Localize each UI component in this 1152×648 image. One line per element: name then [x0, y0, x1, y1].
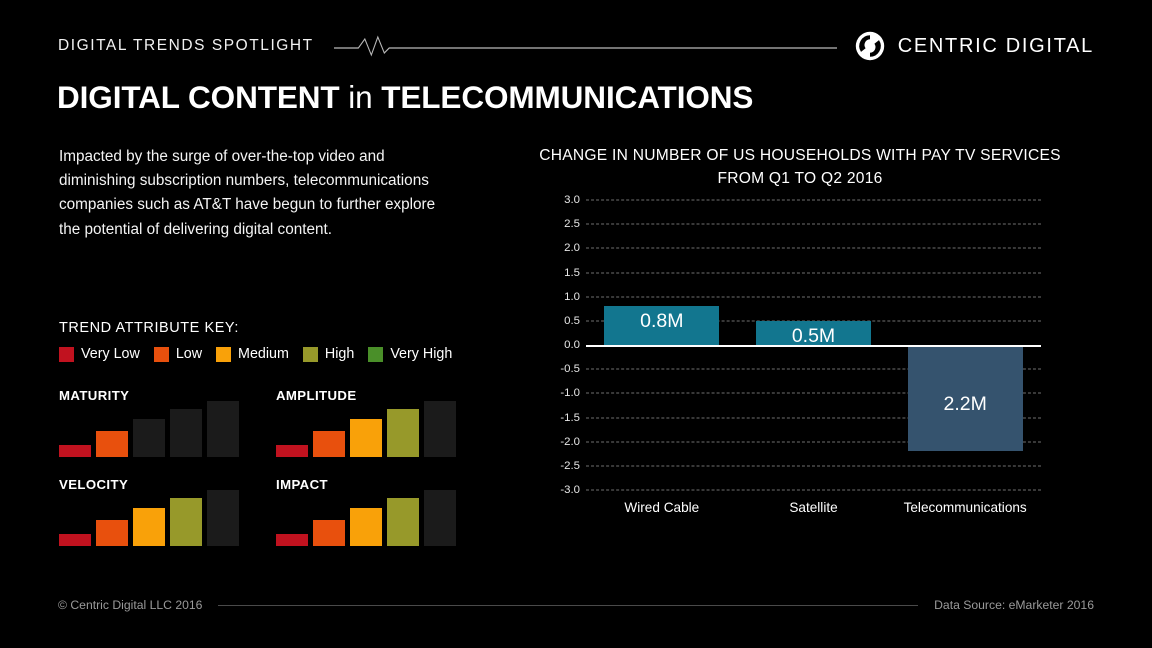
x-axis-labels: Wired CableSatelliteTelecommunications [586, 500, 1041, 524]
attribute-meter-bar [170, 409, 202, 457]
chart-gridline [586, 490, 1041, 491]
attribute-meter-bar [170, 498, 202, 546]
page-title: DIGITAL CONTENT in TELECOMMUNICATIONS [57, 80, 753, 115]
page-title-part3: TELECOMMUNICATIONS [381, 79, 753, 115]
chart-title-line2: FROM Q1 TO Q2 2016 [520, 168, 1080, 191]
attribute-meter-bar [59, 534, 91, 546]
legend-label: Very High [390, 346, 452, 362]
attribute-meter-bar [96, 431, 128, 457]
intro-paragraph: Impacted by the surge of over-the-top vi… [59, 145, 454, 242]
attribute-meter-bar [207, 401, 239, 457]
chart-title-line1: CHANGE IN NUMBER OF US HOUSEHOLDS WITH P… [520, 145, 1080, 168]
chart-bar-value-label: 2.2M [908, 393, 1023, 416]
attribute-meter-bar [96, 520, 128, 546]
chart-bar-value-label: 0.8M [604, 310, 719, 333]
y-axis-tick-label: -3.0 [560, 484, 580, 496]
attribute-meter-bars [276, 407, 438, 457]
y-axis-tick-label: 1.0 [564, 291, 580, 303]
chart-gridline [586, 272, 1041, 273]
y-axis-tick-label: -2.0 [560, 436, 580, 448]
attribute-meter-bar [133, 508, 165, 546]
brand-logo: CENTRIC DIGITAL [855, 31, 1094, 61]
legend-swatch [216, 347, 231, 362]
chart-gridline [586, 296, 1041, 297]
legend-item: Very High [368, 346, 452, 362]
y-axis-tick-label: 0.0 [564, 339, 580, 351]
legend-item: High [303, 346, 354, 362]
attribute-meter-bar [313, 431, 345, 457]
attribute-meter-bar [276, 534, 308, 546]
attribute-meter-bar [387, 498, 419, 546]
attribute-meter-grid: MATURITYAMPLITUDEVELOCITYIMPACT [59, 388, 459, 566]
chart-bar-value-label: 0.5M [756, 325, 871, 348]
attribute-meter-bars [59, 496, 221, 546]
footer-bar: © Centric Digital LLC 2016 Data Source: … [58, 595, 1094, 615]
attribute-meter-bar [387, 409, 419, 457]
attribute-name: MATURITY [59, 388, 221, 403]
chart-gridline [586, 200, 1041, 201]
y-axis-tick-label: 2.5 [564, 218, 580, 230]
attribute-row: MATURITYAMPLITUDE [59, 388, 459, 457]
attribute-meter: VELOCITY [59, 477, 221, 546]
y-axis-tick-label: 0.5 [564, 315, 580, 327]
chart-title: CHANGE IN NUMBER OF US HOUSEHOLDS WITH P… [520, 145, 1080, 190]
legend-item: Low [154, 346, 202, 362]
legend-item: Very Low [59, 346, 140, 362]
legend-swatch [154, 347, 169, 362]
footer-source: Data Source: eMarketer 2016 [934, 598, 1094, 612]
page-title-part2: in [348, 79, 372, 115]
footer-divider [218, 605, 918, 606]
chart-gridline [586, 224, 1041, 225]
x-axis-category-label: Satellite [789, 500, 837, 515]
heartbeat-pulse-line-icon [334, 35, 837, 57]
x-axis-category-label: Telecommunications [904, 500, 1027, 515]
y-axis-tick-label: -1.0 [560, 387, 580, 399]
chart-plot-area: 0.8M0.5M2.2M [586, 200, 1041, 490]
attribute-meter-bar [350, 419, 382, 457]
attribute-meter: MATURITY [59, 388, 221, 457]
legend-label: Medium [238, 346, 289, 362]
legend-swatch [368, 347, 383, 362]
attribute-meter-bar [313, 520, 345, 546]
attribute-name: VELOCITY [59, 477, 221, 492]
y-axis-labels: 3.02.52.01.51.00.50.0-0.5-1.0-1.5-2.0-2.… [548, 200, 580, 490]
legend-label: Very Low [81, 346, 140, 362]
y-axis-tick-label: 1.5 [564, 267, 580, 279]
attribute-name: IMPACT [276, 477, 438, 492]
bar-chart: 3.02.52.01.51.00.50.0-0.5-1.0-1.5-2.0-2.… [548, 200, 1048, 500]
y-axis-tick-label: 3.0 [564, 194, 580, 206]
attribute-meter-bar [276, 445, 308, 457]
chart-gridline [586, 465, 1041, 466]
attribute-row: VELOCITYIMPACT [59, 477, 459, 546]
attribute-name: AMPLITUDE [276, 388, 438, 403]
footer-copyright: © Centric Digital LLC 2016 [58, 598, 202, 612]
legend-swatch [303, 347, 318, 362]
attribute-meter-bar [350, 508, 382, 546]
x-axis-category-label: Wired Cable [624, 500, 699, 515]
centric-digital-logo-icon [855, 31, 885, 61]
y-axis-tick-label: 2.0 [564, 242, 580, 254]
y-axis-tick-label: -1.5 [560, 412, 580, 424]
page-title-part1: DIGITAL CONTENT [57, 79, 340, 115]
legend-swatch [59, 347, 74, 362]
attribute-meter-bars [276, 496, 438, 546]
attribute-meter-bars [59, 407, 221, 457]
trend-key-heading: TREND ATTRIBUTE KEY: [59, 320, 239, 336]
attribute-meter: IMPACT [276, 477, 438, 546]
attribute-meter-bar [424, 401, 456, 457]
chart-gridline [586, 248, 1041, 249]
eyebrow-label: DIGITAL TRENDS SPOTLIGHT [58, 37, 314, 55]
attribute-meter-bar [424, 490, 456, 546]
legend-label: Low [176, 346, 202, 362]
trend-key-legend: Very LowLowMediumHighVery High [59, 346, 466, 362]
legend-item: Medium [216, 346, 289, 362]
header-bar: DIGITAL TRENDS SPOTLIGHT CENTRIC DIGITAL [58, 30, 1094, 62]
infographic-page: DIGITAL TRENDS SPOTLIGHT CENTRIC DIGITAL… [0, 0, 1152, 648]
brand-name: CENTRIC DIGITAL [898, 35, 1094, 58]
attribute-meter-bar [133, 419, 165, 457]
attribute-meter-bar [207, 490, 239, 546]
legend-label: High [325, 346, 354, 362]
attribute-meter: AMPLITUDE [276, 388, 438, 457]
y-axis-tick-label: -0.5 [560, 363, 580, 375]
attribute-meter-bar [59, 445, 91, 457]
y-axis-tick-label: -2.5 [560, 460, 580, 472]
